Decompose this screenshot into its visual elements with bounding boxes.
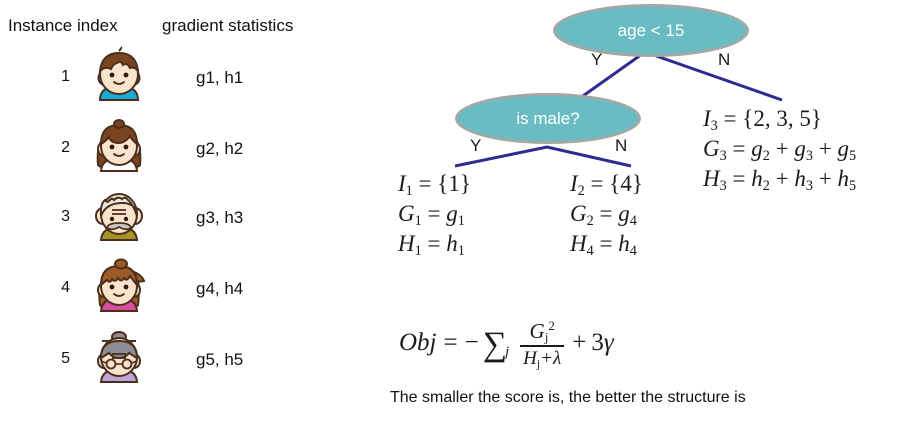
objective-gamma: γ — [604, 329, 614, 357]
row-index-5: 5 — [0, 350, 70, 368]
leaf-1-stats: I1 = {1} G1 = g1 H1 = h1 — [398, 169, 471, 259]
leaf-3-g-term-2: g — [794, 136, 806, 161]
edge-label-root-no: N — [718, 50, 730, 70]
row-gradient-2: g2, h2 — [196, 139, 243, 159]
leaf-3-h-term-2: h — [794, 166, 806, 191]
objective-gamma-coefficient: 3 — [591, 329, 604, 357]
objective-numerator-power: 2 — [548, 318, 555, 333]
leaf-3-h-term-3-sub: 5 — [849, 178, 856, 194]
leaf-3-stats: I3 = {2, 3, 5} G3 = g2 + g3 + g5 H3 = h2… — [703, 104, 856, 194]
leaf-3-g-term-1: g — [751, 136, 763, 161]
caption-text: The smaller the score is, the better the… — [390, 389, 746, 407]
leaf-3-set-symbol: I — [703, 106, 711, 131]
leaf-1-h-value-subscript: 1 — [458, 243, 465, 259]
leaf-1-set-subscript: 1 — [406, 183, 413, 199]
objective-numerator-symbol: G — [530, 319, 545, 343]
leaf-1-set-value: {1} — [437, 171, 471, 196]
leaf-1-g-symbol: G — [398, 201, 415, 226]
edge-label-ismale-no: N — [615, 136, 627, 156]
leaf-3-h-term-3: h — [837, 166, 849, 191]
leaf-2-set-value: {4} — [609, 171, 643, 196]
leaf-3-g-row: G3 = g2 + g3 + g5 — [703, 134, 856, 164]
leaf-2-g-row: G2 = g4 — [570, 199, 643, 229]
leaf-3-set-subscript: 3 — [711, 118, 718, 134]
summation-icon: ∑ — [483, 326, 507, 364]
row-gradient-4: g4, h4 — [196, 279, 243, 299]
leaf-3-set-row: I3 = {2, 3, 5} — [703, 104, 856, 134]
young-woman-avatar — [88, 257, 150, 319]
leaf-3-h-term-1: h — [751, 166, 763, 191]
objective-denominator: Hj+λ — [520, 347, 564, 370]
leaf-2-h-subscript: 4 — [587, 243, 594, 259]
leaf-1-set-symbol: I — [398, 171, 406, 196]
objective-minus-sign: − — [465, 329, 479, 357]
leaf-1-h-row: H1 = h1 — [398, 229, 471, 259]
leaf-3-g-term-2-sub: 3 — [806, 148, 813, 164]
leaf-3-h-term-2-sub: 3 — [806, 178, 813, 194]
leaf-2-set-row: I2 = {4} — [570, 169, 643, 199]
edge-label-ismale-yes: Y — [470, 136, 481, 156]
leaf-1-h-symbol: H — [398, 231, 415, 256]
objective-fraction: Gj2 Hj+λ — [520, 319, 564, 370]
old-woman-avatar — [88, 328, 150, 390]
leaf-1-g-row: G1 = g1 — [398, 199, 471, 229]
decision-node-is-male[interactable]: is male? — [455, 93, 641, 144]
leaf-2-h-value: h — [618, 231, 630, 256]
leaf-3-set-value: {2, 3, 5} — [742, 106, 822, 131]
leaf-3-h-term-1-sub: 2 — [763, 178, 770, 194]
leaf-2-stats: I2 = {4} G2 = g4 H4 = h4 — [570, 169, 643, 259]
leaf-1-set-row: I1 = {1} — [398, 169, 471, 199]
objective-denominator-rest: +λ — [540, 348, 561, 369]
row-gradient-3: g3, h3 — [196, 208, 243, 228]
objective-equals: = — [444, 329, 458, 357]
column-header-gradient-statistics: gradient statistics — [162, 16, 293, 36]
leaf-2-g-value: g — [618, 201, 630, 226]
row-index-4: 4 — [0, 279, 70, 297]
column-header-instance-index: Instance index — [8, 16, 118, 36]
leaf-2-h-symbol: H — [570, 231, 587, 256]
leaf-2-g-symbol: G — [570, 201, 587, 226]
leaf-3-g-symbol: G — [703, 136, 720, 161]
leaf-1-h-value: h — [446, 231, 458, 256]
leaf-2-set-subscript: 2 — [578, 183, 585, 199]
leaf-3-g-subscript: 3 — [720, 148, 727, 164]
leaf-1-g-subscript: 1 — [415, 213, 422, 229]
decision-node-age-label: age < 15 — [618, 21, 685, 41]
girl-avatar — [88, 117, 150, 179]
leaf-3-h-symbol: H — [703, 166, 720, 191]
leaf-3-h-row: H3 = h2 + h3 + h5 — [703, 164, 856, 194]
objective-plus-sign: + — [572, 329, 586, 357]
leaf-3-g-term-3: g — [837, 136, 849, 161]
leaf-3-g-term-1-sub: 2 — [763, 148, 770, 164]
objective-formula: Obj = − ∑ j Gj2 Hj+λ + 3γ — [399, 318, 614, 369]
edge-label-root-yes: Y — [591, 50, 602, 70]
objective-numerator: Gj2 — [527, 319, 558, 345]
slide-canvas: Instance index gradient statistics 1 g1,… — [0, 0, 920, 421]
leaf-2-h-row: H4 = h4 — [570, 229, 643, 259]
leaf-1-g-value: g — [446, 201, 458, 226]
old-man-avatar — [88, 186, 150, 248]
decision-node-is-male-label: is male? — [516, 109, 579, 129]
leaf-3-g-term-3-sub: 5 — [849, 148, 856, 164]
leaf-2-h-value-subscript: 4 — [630, 243, 637, 259]
objective-lhs: Obj — [399, 329, 437, 357]
leaf-3-h-subscript: 3 — [720, 178, 727, 194]
leaf-2-g-subscript: 2 — [587, 213, 594, 229]
leaf-2-g-value-subscript: 4 — [630, 213, 637, 229]
objective-denominator-symbol: H — [523, 348, 537, 369]
row-index-1: 1 — [0, 68, 70, 86]
leaf-1-h-subscript: 1 — [415, 243, 422, 259]
leaf-1-g-value-subscript: 1 — [458, 213, 465, 229]
summation-index: j — [505, 344, 509, 361]
row-gradient-1: g1, h1 — [196, 68, 243, 88]
leaf-2-set-symbol: I — [570, 171, 578, 196]
row-gradient-5: g5, h5 — [196, 350, 243, 370]
boy-avatar — [88, 46, 150, 108]
row-index-3: 3 — [0, 208, 70, 226]
row-index-2: 2 — [0, 139, 70, 157]
